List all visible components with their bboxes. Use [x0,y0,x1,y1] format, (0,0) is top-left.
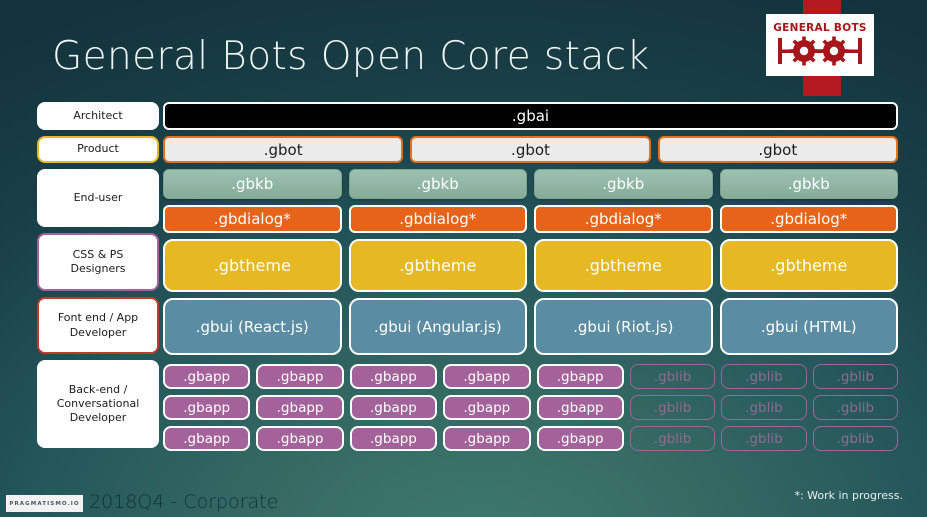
gbapp-gblib-row-2: .gbapp.gbapp.gbapp.gbapp.gbapp.gblib.gbl… [163,395,898,420]
cell-label: .gblib [654,400,692,416]
cell-label: .gbapp [277,431,324,447]
gbapp-gblib-row-1-gbapp-0[interactable]: .gbapp [163,364,250,389]
cell-label: .gblib [745,400,783,416]
gbapp-gblib-row-3-gbapp-4[interactable]: .gbapp [537,426,624,451]
cell-label: .gblib [654,369,692,385]
gbapp-gblib-row-3-gblib-6[interactable]: .gblib [721,426,806,451]
cell-label: .gbtheme [585,256,662,275]
gbapp-gblib-row-3-gbapp-3[interactable]: .gbapp [443,426,530,451]
gbapp-gblib-row-3-gbapp-0[interactable]: .gbapp [163,426,250,451]
gbapp-gblib-row-2-gbapp-2[interactable]: .gbapp [350,395,437,420]
gbot-row-cell-2[interactable]: .gbot [658,136,898,163]
gbkb-row: .gbkb.gbkb.gbkb.gbkb [163,169,898,199]
gbapp-gblib-row-1-gblib-6[interactable]: .gblib [721,364,806,389]
cell-label: .gbdialog* [399,210,476,228]
gbtheme-row-cell-0[interactable]: .gbtheme [163,239,342,292]
role-box-label: Font end / App Developer [58,311,138,340]
general-bots-logo-text: GENERAL BOTS [773,23,867,34]
cell-label: .gbtheme [214,256,291,275]
cell-label: .gbapp [463,400,510,416]
gbkb-row-cell-0[interactable]: .gbkb [163,169,342,199]
gbapp-gblib-row-1-gblib-5[interactable]: .gblib [630,364,715,389]
gbapp-gblib-row-2-gblib-7[interactable]: .gblib [813,395,898,420]
pragmatismo-logo-text: PRAGMATISMO.IO [9,501,79,507]
footer-label: 2018Q4 - Corporate [89,491,278,513]
cell-label: .gbdialog* [214,210,291,228]
cell-label: .gbapp [277,400,324,416]
gbtheme-row-cell-2[interactable]: .gbtheme [534,239,713,292]
gbapp-gblib-row-1-gbapp-3[interactable]: .gbapp [443,364,530,389]
gbtheme-row-cell-3[interactable]: .gbtheme [720,239,899,292]
role-box-2[interactable]: End-user [37,169,159,227]
gbapp-gblib-row-3-gblib-7[interactable]: .gblib [813,426,898,451]
gbai-row: .gbai [163,102,898,130]
cell-label: .gbdialog* [770,210,847,228]
gears-icon [774,35,866,67]
gbui-row-cell-1[interactable]: .gbui (Angular.js) [349,298,528,355]
role-box-label: End-user [74,191,123,205]
gbapp-gblib-row-1: .gbapp.gbapp.gbapp.gbapp.gbapp.gblib.gbl… [163,364,898,389]
role-box-label: Architect [73,109,122,123]
cell-label: .gblib [745,369,783,385]
cell-label: .gbapp [183,400,230,416]
cell-label: .gbkb [417,175,459,193]
cell-label: .gblib [837,431,875,447]
cell-label: .gbui (Angular.js) [374,318,502,336]
cell-label: .gbapp [557,400,604,416]
cell-label: .gbapp [557,431,604,447]
gbapp-gblib-row-2-gblib-5[interactable]: .gblib [630,395,715,420]
gbkb-row-cell-1[interactable]: .gbkb [349,169,528,199]
gbapp-gblib-row-1-gblib-7[interactable]: .gblib [813,364,898,389]
gbot-row-cell-0[interactable]: .gbot [163,136,403,163]
role-sidebar: ArchitectProductEnd-userCSS & PS Designe… [37,102,159,454]
gbapp-gblib-row-2-gbapp-3[interactable]: .gbapp [443,395,530,420]
cell-label: .gbapp [463,369,510,385]
gbapp-gblib-row-3-gblib-5[interactable]: .gblib [630,426,715,451]
cell-label: .gbkb [231,175,273,193]
cell-label: .gbkb [602,175,644,193]
gbdialog-row-cell-2[interactable]: .gbdialog* [534,205,713,233]
gbapp-gblib-row-3: .gbapp.gbapp.gbapp.gbapp.gbapp.gblib.gbl… [163,426,898,451]
cell-label: .gbapp [370,369,417,385]
cell-label: .gblib [837,400,875,416]
role-box-1[interactable]: Product [37,136,159,163]
cell-label: .gbui (React.js) [196,318,309,336]
gbtheme-row-cell-1[interactable]: .gbtheme [349,239,528,292]
cell-label: .gbui (Riot.js) [573,318,673,336]
cell-label: .gblib [745,431,783,447]
gbot-row: .gbot.gbot.gbot [163,136,898,163]
cell-label: .gblib [837,369,875,385]
footnote-label: *: Work in progress. [794,489,903,502]
gbapp-gblib-row-3-gbapp-1[interactable]: .gbapp [256,426,343,451]
pragmatismo-logo: PRAGMATISMO.IO [6,495,83,512]
cell-label: .gbapp [463,431,510,447]
role-box-5[interactable]: Back-end / Conversational Developer [37,360,159,448]
role-box-0[interactable]: Architect [37,102,159,130]
cell-label: .gbapp [183,431,230,447]
gbapp-gblib-row-1-gbapp-2[interactable]: .gbapp [350,364,437,389]
cell-label: .gbot [511,141,550,159]
cell-label: .gbot [758,141,797,159]
gbkb-row-cell-3[interactable]: .gbkb [720,169,899,199]
gbtheme-row: .gbtheme.gbtheme.gbtheme.gbtheme [163,239,898,292]
gbdialog-row-cell-3[interactable]: .gbdialog* [720,205,899,233]
gbapp-gblib-row-1-gbapp-4[interactable]: .gbapp [537,364,624,389]
gbapp-gblib-row-1-gbapp-1[interactable]: .gbapp [256,364,343,389]
gbdialog-row-cell-0[interactable]: .gbdialog* [163,205,342,233]
cell-label: .gbai [512,107,549,125]
cell-label: .gbui (HTML) [761,318,857,336]
role-box-4[interactable]: Font end / App Developer [37,297,159,354]
slide-canvas: General Bots Open Core stack GENERAL BOT… [0,0,927,517]
role-box-3[interactable]: CSS & PS Designers [37,233,159,291]
gbapp-gblib-row-2-gbapp-4[interactable]: .gbapp [537,395,624,420]
gbui-row: .gbui (React.js).gbui (Angular.js).gbui … [163,298,898,355]
general-bots-logo: GENERAL BOTS [766,14,874,76]
gbdialog-row-cell-1[interactable]: .gbdialog* [349,205,528,233]
cell-label: .gbapp [370,431,417,447]
stack-grid: .gbai.gbot.gbot.gbot.gbkb.gbkb.gbkb.gbkb… [163,102,898,457]
gbui-row-cell-0[interactable]: .gbui (React.js) [163,298,342,355]
gbapp-gblib-row-2-gbapp-0[interactable]: .gbapp [163,395,250,420]
cell-label: .gbtheme [770,256,847,275]
cell-label: .gbtheme [399,256,476,275]
cell-label: .gbapp [370,400,417,416]
cell-label: .gbdialog* [585,210,662,228]
gbapp-gblib-row-2-gblib-6[interactable]: .gblib [721,395,806,420]
gbai-row-cell-0[interactable]: .gbai [163,102,898,130]
cell-label: .gbkb [788,175,830,193]
page-title: General Bots Open Core stack [52,34,649,79]
gbapp-gblib-row-3-gbapp-2[interactable]: .gbapp [350,426,437,451]
cell-label: .gbapp [557,369,604,385]
role-box-label: Back-end / Conversational Developer [57,383,140,426]
cell-label: .gblib [654,431,692,447]
gbot-row-cell-1[interactable]: .gbot [410,136,650,163]
cell-label: .gbapp [183,369,230,385]
gbapp-gblib-row-2-gbapp-1[interactable]: .gbapp [256,395,343,420]
gbui-row-cell-2[interactable]: .gbui (Riot.js) [534,298,713,355]
role-box-label: CSS & PS Designers [71,248,126,277]
cell-label: .gbapp [277,369,324,385]
gbui-row-cell-3[interactable]: .gbui (HTML) [720,298,899,355]
gbdialog-row: .gbdialog*.gbdialog*.gbdialog*.gbdialog* [163,205,898,233]
role-box-label: Product [77,142,119,156]
gbkb-row-cell-2[interactable]: .gbkb [534,169,713,199]
cell-label: .gbot [264,141,303,159]
